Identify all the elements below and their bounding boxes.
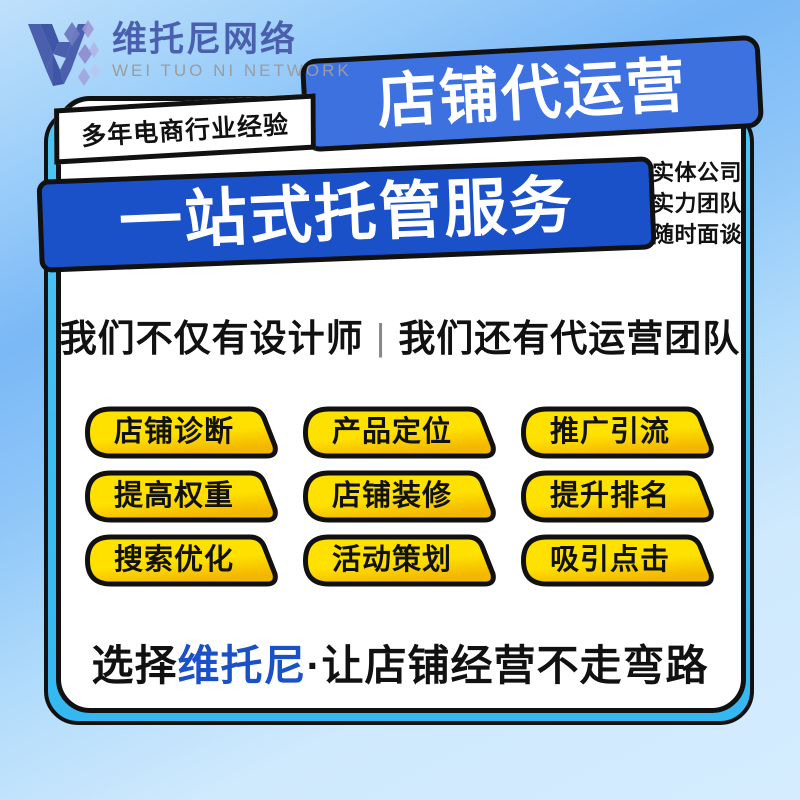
service-pill-label: 提高权重: [114, 482, 234, 511]
footer-dot: ·: [307, 642, 322, 689]
footer-suffix: 让店铺经营不走弯路: [322, 642, 709, 689]
info-line: 实体公司: [652, 160, 756, 187]
service-pill[interactable]: 活动策划: [302, 534, 498, 587]
service-pill[interactable]: 店铺装修: [302, 470, 498, 523]
headline: 我们不仅有设计师|我们还有代运营团队: [0, 320, 800, 357]
service-pill[interactable]: 吸引点击: [520, 534, 716, 587]
service-pill-label: 活动策划: [332, 546, 452, 575]
headline-right: 我们还有代运营团队: [398, 318, 740, 359]
service-pill-row: 搜索优化 活动策划 吸引点击: [84, 534, 716, 587]
promo-poster: 维托尼网络 WEI TUO NI NETWORK 店铺代运营 多年电商行业经验 …: [0, 0, 800, 800]
headline-left: 我们不仅有设计师: [60, 318, 364, 359]
service-pill[interactable]: 店铺诊断: [84, 406, 280, 459]
service-pill[interactable]: 搜索优化: [84, 534, 280, 587]
info-line: 随时面谈: [652, 222, 756, 249]
service-pill[interactable]: 推广引流: [520, 406, 716, 459]
brand-logo: 维托尼网络 WEI TUO NI NETWORK: [26, 18, 352, 90]
service-pill-label: 店铺诊断: [114, 418, 234, 447]
service-pill-row: 店铺诊断 产品定位 推广引流: [84, 406, 716, 459]
service-pill[interactable]: 提高权重: [84, 470, 280, 523]
service-pill-grid: 店铺诊断 产品定位 推广引流: [84, 406, 716, 587]
brand-name-en: WEI TUO NI NETWORK: [112, 61, 352, 81]
service-pill[interactable]: 提升排名: [520, 470, 716, 523]
experience-tag-label: 多年电商行业经验: [80, 105, 290, 153]
info-line: 实力团队: [652, 191, 756, 218]
service-pill[interactable]: 产品定位: [302, 406, 498, 459]
service-pill-label: 吸引点击: [550, 546, 670, 575]
service-pill-label: 店铺装修: [332, 482, 452, 511]
service-pill-label: 提升排名: [550, 482, 670, 511]
footer-brand: 维托尼: [177, 642, 306, 689]
service-pill-row: 提高权重 店铺装修 提升排名: [84, 470, 716, 523]
footer-tagline: 选择维托尼·让店铺经营不走弯路: [0, 645, 800, 687]
info-right-block: 实体公司 实力团队 随时面谈: [652, 160, 756, 248]
service-pill-label: 搜索优化: [114, 546, 234, 575]
brand-name-cn: 维托尼网络: [112, 22, 352, 59]
top-badge-label: 店铺代运营: [376, 55, 689, 132]
headline-divider: |: [376, 319, 387, 356]
main-banner-label: 一站式托管服务: [118, 174, 575, 254]
w-diamond-logo-icon: [26, 18, 104, 90]
service-pill-label: 产品定位: [332, 418, 452, 447]
footer-prefix: 选择: [91, 642, 177, 689]
brand-logo-text: 维托尼网络 WEI TUO NI NETWORK: [112, 18, 352, 81]
service-pill-label: 推广引流: [550, 418, 670, 447]
